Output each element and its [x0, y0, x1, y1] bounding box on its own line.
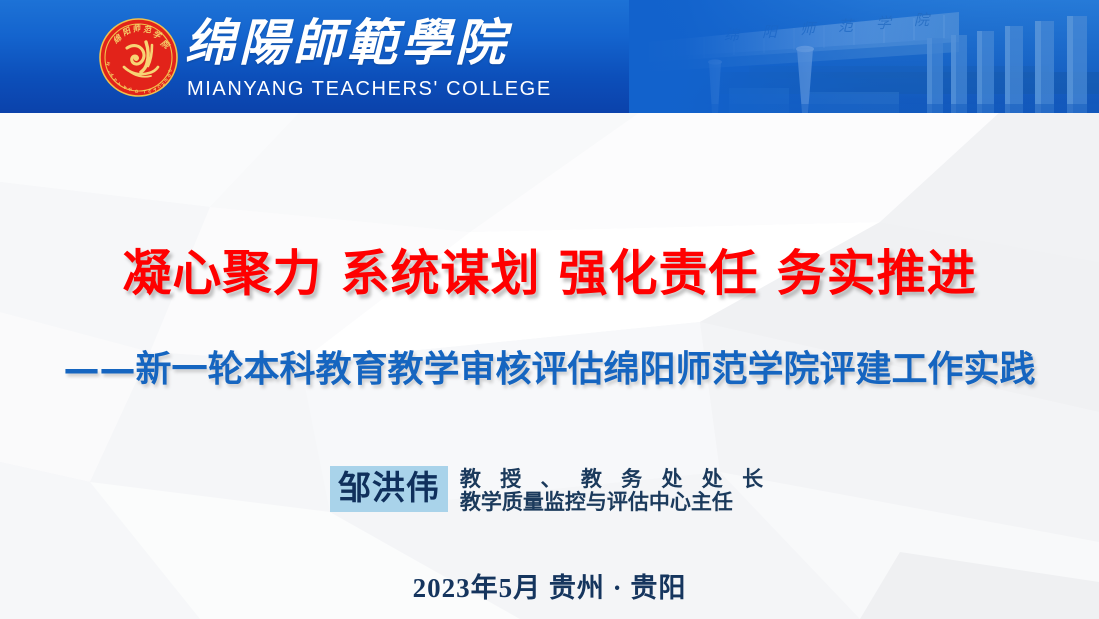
- svg-text:院: 院: [914, 12, 931, 29]
- presentation-slide: 绵 阳 师 范 学 院: [0, 0, 1099, 619]
- svg-text:学: 学: [876, 15, 893, 32]
- presenter-name-highlight: 邹洪伟: [330, 466, 448, 512]
- campus-gate-illustration: 绵 阳 师 范 学 院: [629, 0, 1099, 113]
- presenter-role-line-2: 教学质量监控与评估中心主任: [460, 491, 769, 514]
- presenter-block: 邹洪伟 教 授 、 教 务 处 处 长 教学质量监控与评估中心主任: [0, 466, 1099, 514]
- slide-main-title: 凝心聚力 系统谋划 强化责任 务实推进: [0, 234, 1099, 305]
- svg-text:范: 范: [838, 18, 855, 35]
- presenter-roles: 教 授 、 教 务 处 处 长 教学质量监控与评估中心主任: [460, 466, 769, 514]
- slide-subtitle: ——新一轮本科教育教学审核评估绵阳师范学院评建工作实践: [0, 340, 1099, 392]
- college-seal-logo-icon: 绵 阳 师 范 学 院 M I A N Y A N G T: [99, 18, 178, 97]
- svg-text:阳: 阳: [762, 24, 779, 41]
- presenter-role-line-1: 教 授 、 教 务 处 处 长: [460, 468, 769, 491]
- school-name-english: MIANYANG TEACHERS' COLLEGE: [187, 78, 552, 101]
- date-and-place: 2023年5月 贵州 · 贵阳: [0, 566, 1099, 605]
- seal-svg: 绵 阳 师 范 学 院 M I A N Y A N G T: [99, 18, 178, 97]
- svg-text:绵: 绵: [724, 27, 741, 44]
- presenter-inner: 邹洪伟 教 授 、 教 务 处 处 长 教学质量监控与评估中心主任: [330, 466, 769, 514]
- slide-header-bar: 绵 阳 师 范 学 院: [0, 0, 1099, 113]
- school-name-chinese: 绵陽師範學院: [185, 14, 509, 72]
- campus-gate-photo: 绵 阳 师 范 学 院: [629, 0, 1099, 113]
